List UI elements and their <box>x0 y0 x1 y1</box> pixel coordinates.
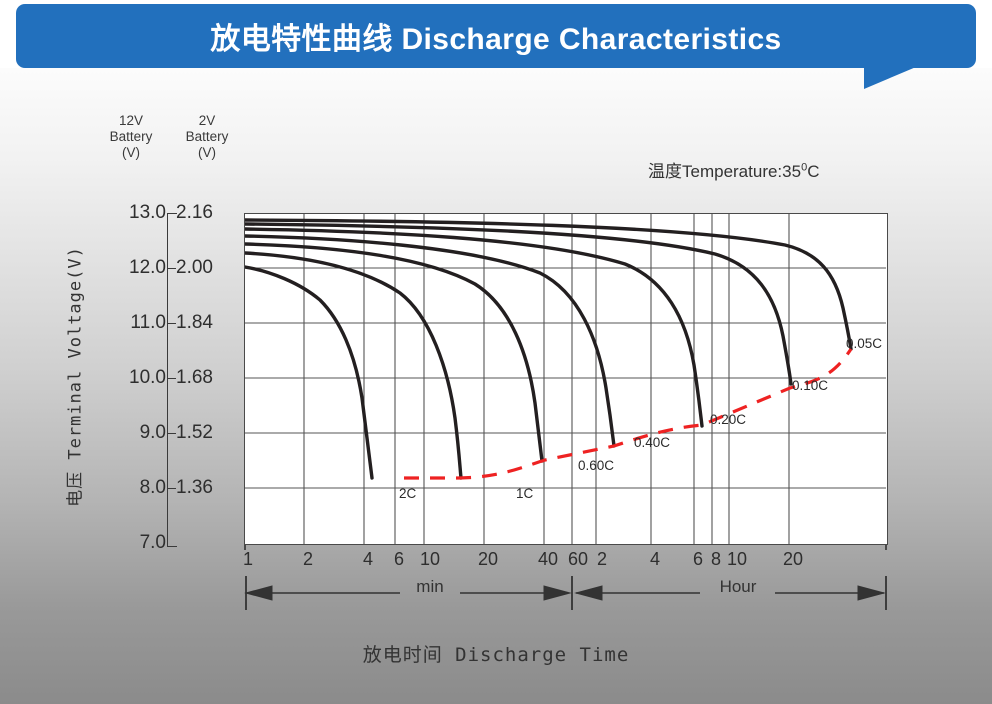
x-tick-12: 10 <box>717 549 757 570</box>
x-axis-tick-labels: 1 2 4 6 10 20 40 60 2 4 6 8 10 20 <box>0 549 992 573</box>
x-tick-4: 10 <box>410 549 450 570</box>
curve-label-0.05C: 0.05C <box>846 336 882 351</box>
x-tick-9: 4 <box>635 549 675 570</box>
x-tick-13: 20 <box>773 549 813 570</box>
span-label-hour: Hour <box>715 577 762 597</box>
discharge-curves <box>245 220 851 478</box>
discharge-characteristics-figure: 放电特性曲线 Discharge Characteristics 12V Bat… <box>0 0 992 704</box>
curve-label-0.60C: 0.60C <box>578 458 614 473</box>
page-title: 放电特性曲线 Discharge Characteristics <box>210 14 781 58</box>
x-tick-0: 1 <box>228 549 268 570</box>
curve-label-0.40C: 0.40C <box>634 435 670 450</box>
curve-1C <box>245 253 461 478</box>
x-axis-title: 放电时间 Discharge Time <box>0 640 992 667</box>
chart-stage: 12V Battery (V) 2V Battery (V) 温度Tempera… <box>0 68 992 704</box>
span-label-min: min <box>411 577 448 597</box>
x-tick-1: 2 <box>288 549 328 570</box>
curve-label-0.20C: 0.20C <box>710 412 746 427</box>
cutoff-dashed-line <box>404 349 851 478</box>
x-tick-8: 2 <box>582 549 622 570</box>
x-tick-5: 20 <box>468 549 508 570</box>
curve-label-0.10C: 0.10C <box>792 378 828 393</box>
curve-label-2C: 2C <box>399 486 416 501</box>
header-banner: 放电特性曲线 Discharge Characteristics <box>16 4 976 68</box>
curve-0.20C <box>245 229 702 426</box>
curve-2C <box>245 267 372 478</box>
vertical-gridlines <box>304 214 789 544</box>
curve-0.60C <box>245 244 542 461</box>
curve-label-1C: 1C <box>516 486 533 501</box>
span-label-row: min Hour <box>0 576 992 610</box>
